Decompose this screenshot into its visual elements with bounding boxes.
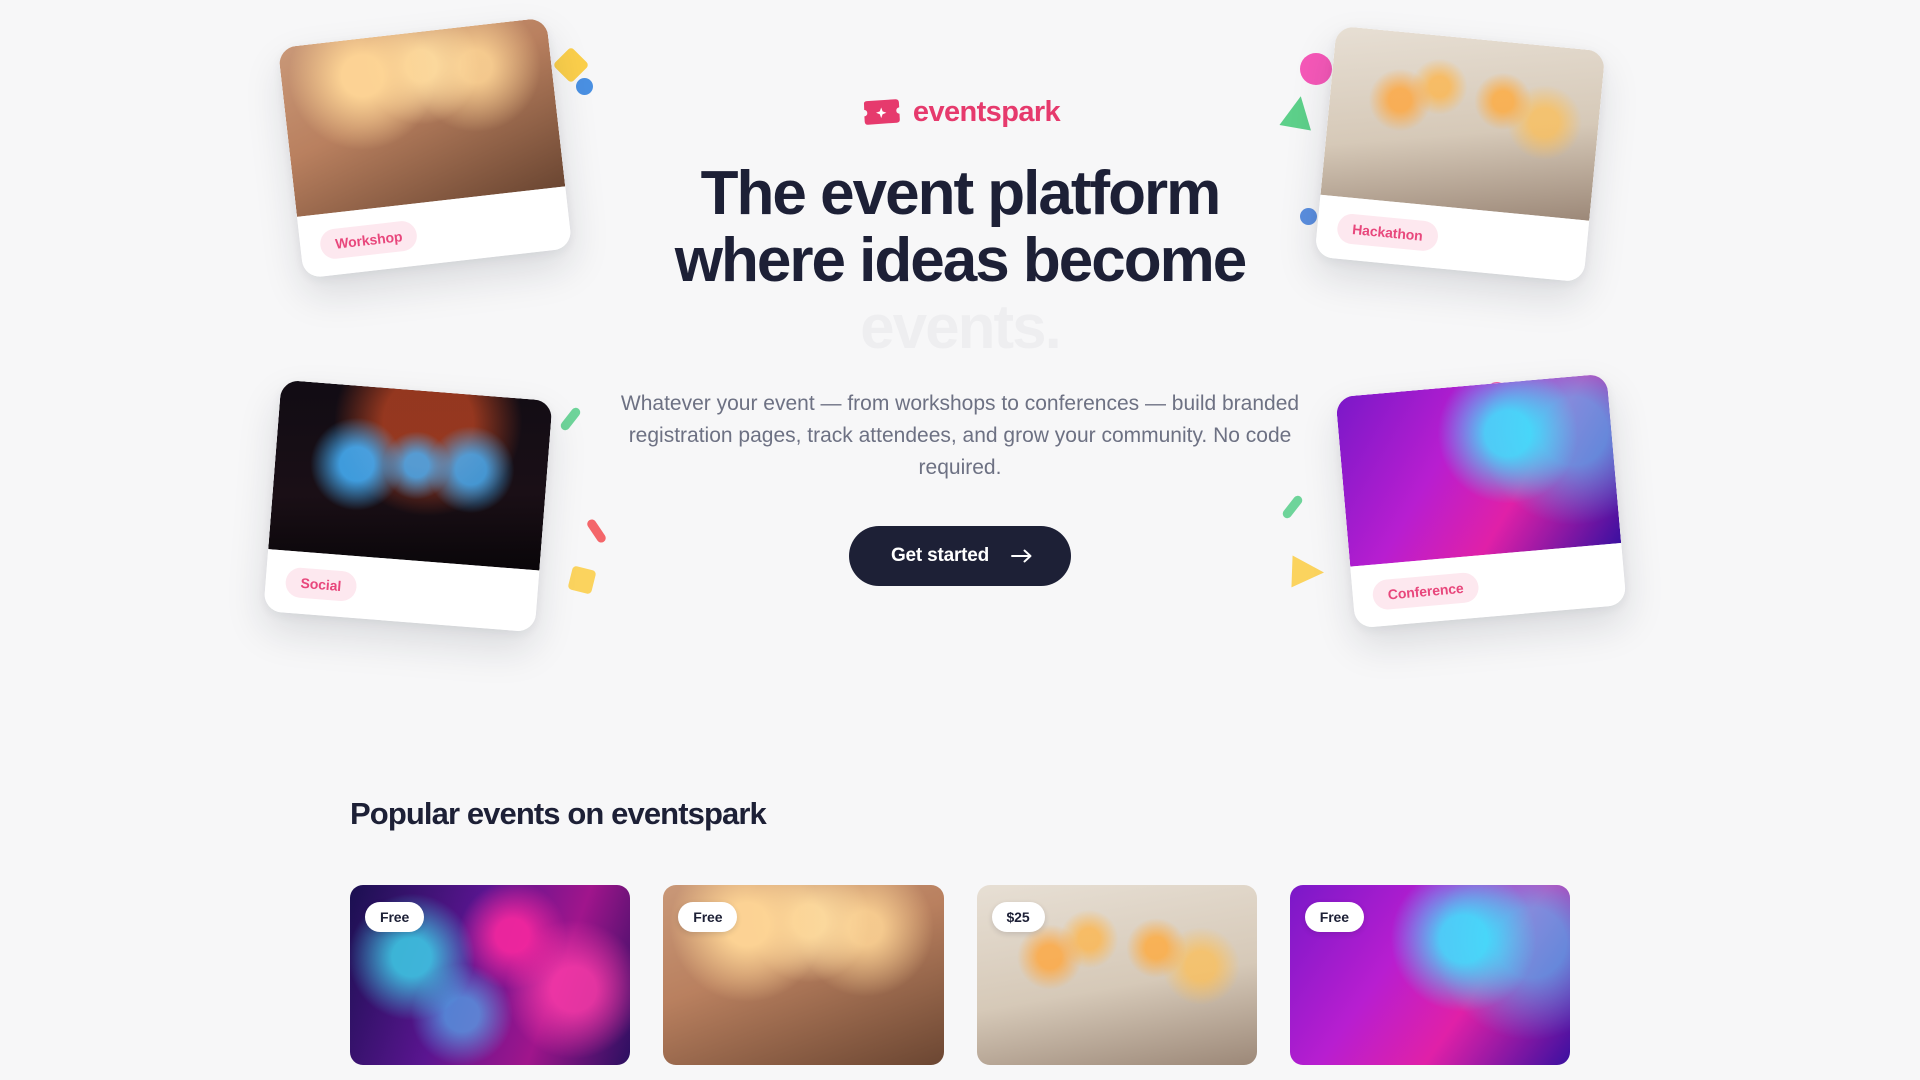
event-thumbnail: Free	[1290, 885, 1570, 1065]
event-card[interactable]: FreeSAT, MAR 28AI hackathon	[350, 885, 630, 1080]
category-tag-social: Social	[285, 567, 358, 602]
event-card[interactable]: FreeSAT, APR 19Vibe coding summit	[1290, 885, 1570, 1080]
event-thumbnail: Free	[350, 885, 630, 1065]
event-card[interactable]: $25FRI, APR 11Startup weekend	[977, 885, 1257, 1080]
headline-line-3: events.	[580, 295, 1340, 362]
collage-card-social[interactable]: Social	[263, 380, 552, 633]
event-thumbnail: Free	[663, 885, 943, 1065]
landing-page: WorkshopHackathonSocialConference events…	[0, 0, 1920, 1080]
get-started-button[interactable]: Get started	[849, 526, 1071, 586]
price-badge: Free	[365, 902, 424, 932]
collage-photo-conference	[1335, 374, 1621, 567]
collage-card-workshop[interactable]: Workshop	[278, 17, 573, 278]
collage-card-conference[interactable]: Conference	[1335, 374, 1626, 629]
collage-photo-social	[268, 380, 552, 571]
category-tag-workshop: Workshop	[319, 220, 419, 261]
brand-logo[interactable]: eventspark	[580, 96, 1340, 129]
popular-events-section: Popular events on eventspark FreeSAT, MA…	[0, 700, 1920, 1080]
headline-line-2: where ideas become	[580, 228, 1340, 295]
category-tag-hackathon: Hackathon	[1336, 213, 1439, 253]
event-thumbnail: $25	[977, 885, 1257, 1065]
popular-events-title: Popular events on eventspark	[350, 796, 1570, 832]
confetti-dot-blue-left	[576, 78, 593, 95]
collage-photo-workshop	[278, 17, 566, 216]
brand-name: eventspark	[913, 96, 1060, 129]
collage-photo-hackathon	[1320, 26, 1605, 221]
hero-content: eventspark The event platform where idea…	[580, 96, 1340, 586]
headline-line-1: The event platform	[580, 161, 1340, 228]
hero-headline: The event platform where ideas become ev…	[580, 161, 1340, 362]
hero-cta-wrap: Get started	[580, 526, 1340, 586]
price-badge: $25	[992, 902, 1045, 932]
get-started-label: Get started	[891, 545, 989, 567]
ticket-sparkle-icon	[860, 98, 902, 128]
arrow-right-icon	[1011, 549, 1033, 563]
event-card[interactable]: FreeTHU, APR 3Chill coworking day	[663, 885, 943, 1080]
price-badge: Free	[1305, 902, 1364, 932]
confetti-bar-green-social	[559, 406, 582, 432]
price-badge: Free	[678, 902, 737, 932]
collage-card-hackathon[interactable]: Hackathon	[1315, 26, 1606, 283]
hero-section: WorkshopHackathonSocialConference events…	[0, 0, 1920, 700]
confetti-circle-pink-right	[1300, 53, 1332, 85]
hero-subtitle: Whatever your event — from workshops to …	[580, 388, 1340, 484]
category-tag-conference: Conference	[1372, 572, 1480, 611]
event-grid: FreeSAT, MAR 28AI hackathonFreeTHU, APR …	[350, 885, 1570, 1080]
